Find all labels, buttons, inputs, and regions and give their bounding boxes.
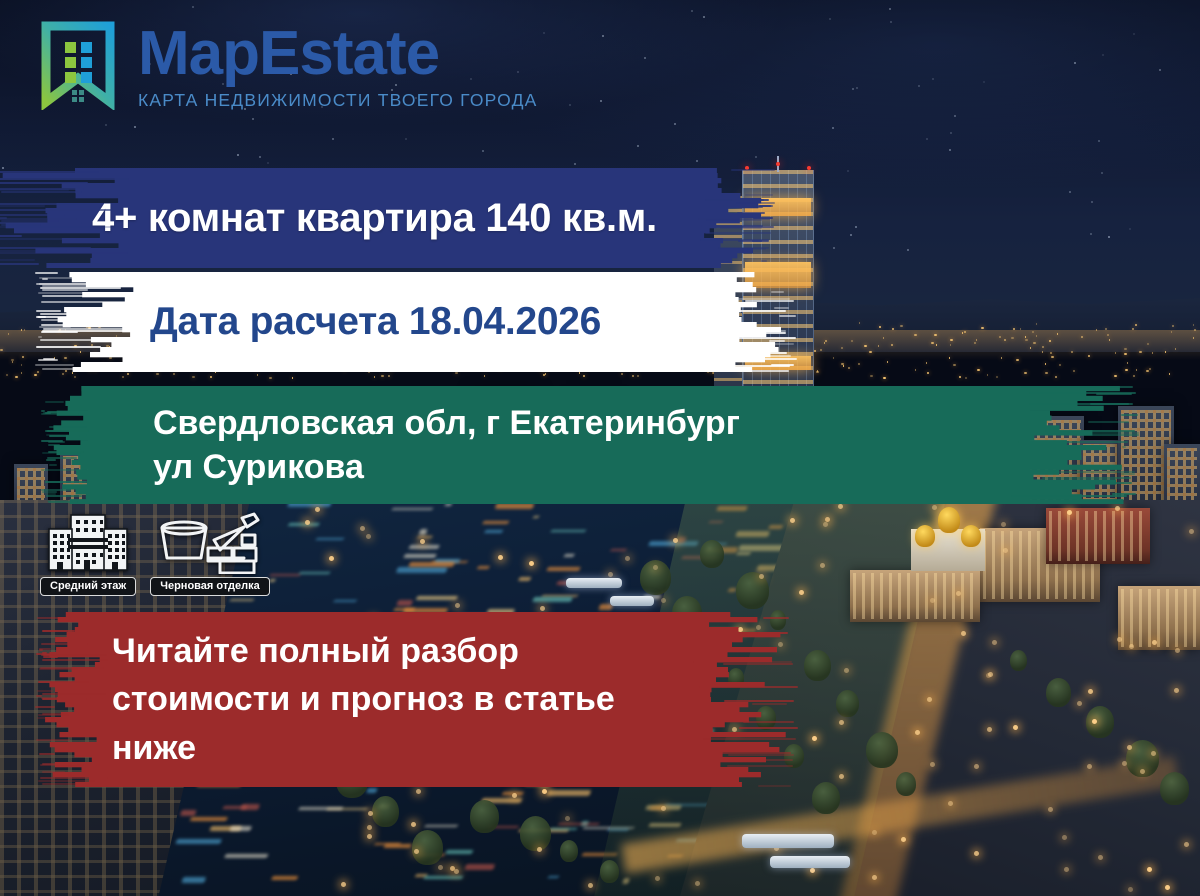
- promo-poster: MapEstate КАРТА НЕДВИЖИМОСТИ ТВОЕГО ГОРО…: [0, 0, 1200, 896]
- paint-bucket-trowel-bricks-icon: [158, 512, 262, 574]
- bookmark-building-icon: [32, 18, 124, 110]
- cta-line-1: Читайте полный разбор: [112, 627, 786, 675]
- feature-finishing-label: Черновая отделка: [150, 577, 270, 596]
- feature-badges: Средний этаж: [40, 512, 270, 596]
- address-banner: Свердловская обл, г Екатеринбург ул Сури…: [48, 386, 1126, 504]
- building-floor-icon: [46, 512, 130, 574]
- address-line-2: ул Сурикова: [153, 445, 1126, 489]
- rooms-banner-text: 4+ комнат квартира 140 кв.м.: [0, 196, 762, 241]
- cta-line-2: стоимости и прогноз в статье: [112, 675, 786, 723]
- cta-banner[interactable]: Читайте полный разбор стоимости и прогно…: [42, 612, 786, 787]
- feature-floor: Средний этаж: [40, 512, 136, 596]
- brand-logo[interactable]: MapEstate КАРТА НЕДВИЖИМОСТИ ТВОЕГО ГОРО…: [32, 18, 538, 110]
- cta-line-3: ниже: [112, 724, 786, 772]
- feature-finishing: Черновая отделка: [150, 512, 270, 596]
- address-line-1: Свердловская обл, г Екатеринбург: [153, 401, 1126, 445]
- feature-floor-label: Средний этаж: [40, 577, 136, 596]
- brand-name: MapEstate: [138, 23, 538, 85]
- date-banner-text: Дата расчета 18.04.2026: [42, 300, 784, 344]
- brand-tagline: КАРТА НЕДВИЖИМОСТИ ТВОЕГО ГОРОДА: [138, 92, 538, 110]
- rooms-banner: 4+ комнат квартира 140 кв.м.: [0, 168, 762, 268]
- date-banner: Дата расчета 18.04.2026: [42, 272, 784, 372]
